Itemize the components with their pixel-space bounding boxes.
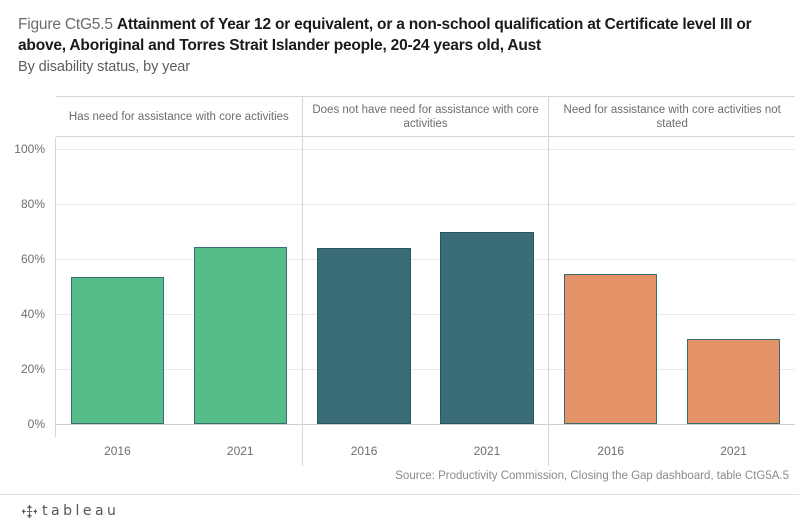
panel-header-has-need: Has need for assistance with core activi… xyxy=(56,97,303,136)
y-tick-80: 80% xyxy=(21,197,45,211)
panel-header-row: Has need for assistance with core activi… xyxy=(56,96,795,137)
title-block: Figure CtG5.5 Attainment of Year 12 or e… xyxy=(18,14,786,78)
bar-slot-2016 xyxy=(56,137,179,424)
figure-number: Figure CtG5.5 xyxy=(18,16,117,33)
bar-not-stated-2016[interactable] xyxy=(564,274,657,424)
panel-header-not-stated: Need for assistance with core activities… xyxy=(549,97,795,136)
x-axis: 2016 2021 2016 2021 2016 2021 xyxy=(56,437,795,466)
x-label-2016: 2016 xyxy=(56,437,179,466)
page-title: Figure CtG5.5 Attainment of Year 12 or e… xyxy=(18,14,786,56)
bar-not-stated-2021[interactable] xyxy=(687,339,780,424)
x-label-2016: 2016 xyxy=(549,437,672,466)
y-tick-20: 20% xyxy=(21,362,45,376)
bar-has-need-2016[interactable] xyxy=(71,277,164,424)
panel-has-need xyxy=(56,137,303,437)
bar-slot-2016 xyxy=(549,137,672,424)
title-text: Attainment of Year 12 or equivalent, or … xyxy=(18,16,752,54)
panel-not-stated xyxy=(549,137,795,437)
tableau-wordmark: tableau xyxy=(42,503,119,519)
x-panel-has-need: 2016 2021 xyxy=(56,437,303,466)
bar-slot-2021 xyxy=(426,137,549,424)
panel-does-not-have-need xyxy=(303,137,550,437)
y-tick-60: 60% xyxy=(21,252,45,266)
bar-group-has-need xyxy=(56,137,302,437)
bar-does-not-have-need-2021[interactable] xyxy=(440,232,533,424)
x-panel-not-stated: 2016 2021 xyxy=(549,437,795,466)
tableau-logo[interactable]: tableau xyxy=(22,503,119,519)
x-label-2021: 2021 xyxy=(672,437,795,466)
bar-slot-2016 xyxy=(303,137,426,424)
source-caption: Source: Productivity Commission, Closing… xyxy=(395,470,789,482)
panel-header-does-not-have-need: Does not have need for assistance with c… xyxy=(303,97,550,136)
tableau-mark-icon xyxy=(22,504,37,519)
x-label-2021: 2021 xyxy=(179,437,302,466)
page-subtitle: By disability status, by year xyxy=(18,57,786,78)
x-label-2021: 2021 xyxy=(426,437,549,466)
x-panel-does-not-have-need: 2016 2021 xyxy=(303,437,550,466)
bar-slot-2021 xyxy=(672,137,795,424)
x-label-2016: 2016 xyxy=(303,437,426,466)
y-tick-0: 0% xyxy=(28,417,45,431)
tableau-footer: tableau xyxy=(0,494,799,527)
bar-group-not-stated xyxy=(549,137,795,437)
y-tick-40: 40% xyxy=(21,307,45,321)
y-axis: 100% 80% 60% 40% 20% 0% xyxy=(0,137,56,437)
bar-slot-2021 xyxy=(179,137,302,424)
plot-body: 100% 80% 60% 40% 20% 0% xyxy=(0,137,799,437)
bar-does-not-have-need-2016[interactable] xyxy=(317,248,410,424)
bar-has-need-2021[interactable] xyxy=(194,247,287,424)
chart-area: Has need for assistance with core activi… xyxy=(0,96,799,466)
y-tick-100: 100% xyxy=(14,142,45,156)
panels-container xyxy=(56,137,795,437)
tableau-viz-container: Figure CtG5.5 Attainment of Year 12 or e… xyxy=(0,0,799,526)
bar-group-does-not-have-need xyxy=(303,137,549,437)
